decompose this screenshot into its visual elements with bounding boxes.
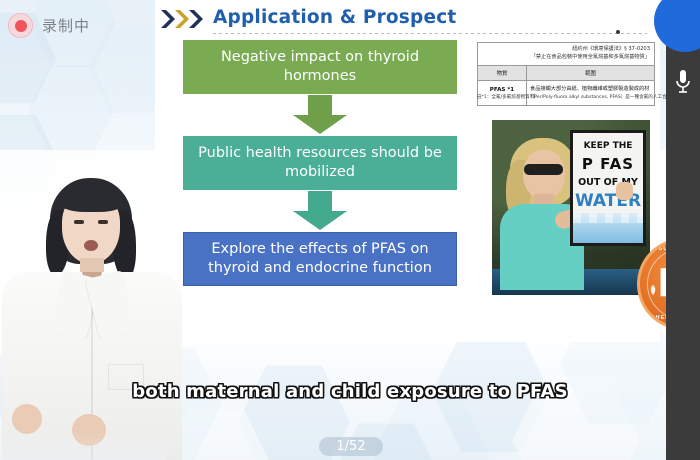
table-heading: 紐約州《環境保護法》§ 37-0203 「禁止在食品包裝中使用全氟烷基和多氟烷基…: [478, 43, 654, 66]
table-header-row: 物質 範圍: [478, 66, 654, 81]
recording-indicator: 录制中: [8, 13, 90, 38]
flow-box-1: Negative impact on thyroid hormones: [183, 40, 457, 94]
slide-canvas: Application & Prospect Negative impact o…: [155, 0, 660, 342]
slide-title: Application & Prospect: [213, 7, 456, 28]
table-heading-line1: 紐約州《環境保護法》§ 37-0203: [478, 46, 650, 54]
screen: 录制中 Application & Prospect Negative impa…: [0, 0, 700, 460]
leaf-icon: [647, 283, 659, 295]
page-indicator: 1/52: [319, 437, 383, 456]
sign-line-1: KEEP THE: [573, 141, 643, 151]
protest-sign: KEEP THE P FAS OUT OF MY WATER: [570, 130, 646, 246]
sunglasses-icon: [524, 164, 563, 175]
table-row: PFAS *1 食品接觸大部分由紙、植物纖維或塑膠製造製成的材料: [478, 81, 654, 105]
recording-label: 录制中: [42, 15, 90, 36]
table-cell-scope: 食品接觸大部分由紙、植物纖維或塑膠製造製成的材料: [527, 81, 654, 105]
flow-arrow-1: [183, 94, 457, 136]
flow-chart: Negative impact on thyroid hormones Publ…: [183, 40, 457, 286]
title-divider: [213, 33, 647, 34]
flow-box-2: Public health resources should be mobili…: [183, 136, 457, 190]
right-toolbar[interactable]: [666, 0, 700, 460]
table-cell-substance: PFAS *1: [478, 81, 527, 105]
microphone-icon[interactable]: [673, 68, 693, 96]
title-end-dot-icon: [616, 30, 620, 34]
flow-arrow-2: [183, 190, 457, 232]
table-heading-line2: 「禁止在食品包裝中使用全氟烷基和多氟烷基物質」: [478, 54, 650, 62]
chevron-bullet-icon: [161, 8, 209, 30]
sign-line-2: P FAS: [573, 155, 643, 173]
subtitle-caption: both maternal and child exposure to PFAS: [0, 381, 700, 402]
protester-photo: KEEP THE P FAS OUT OF MY WATER: [492, 120, 650, 295]
table-col-scope: 範圍: [527, 66, 654, 80]
record-dot-icon: [8, 13, 33, 38]
table-col-substance: 物質: [478, 66, 527, 80]
flow-box-3: Explore the effects of PFAS on thyroid a…: [183, 232, 457, 286]
presenter-video: [0, 168, 166, 460]
